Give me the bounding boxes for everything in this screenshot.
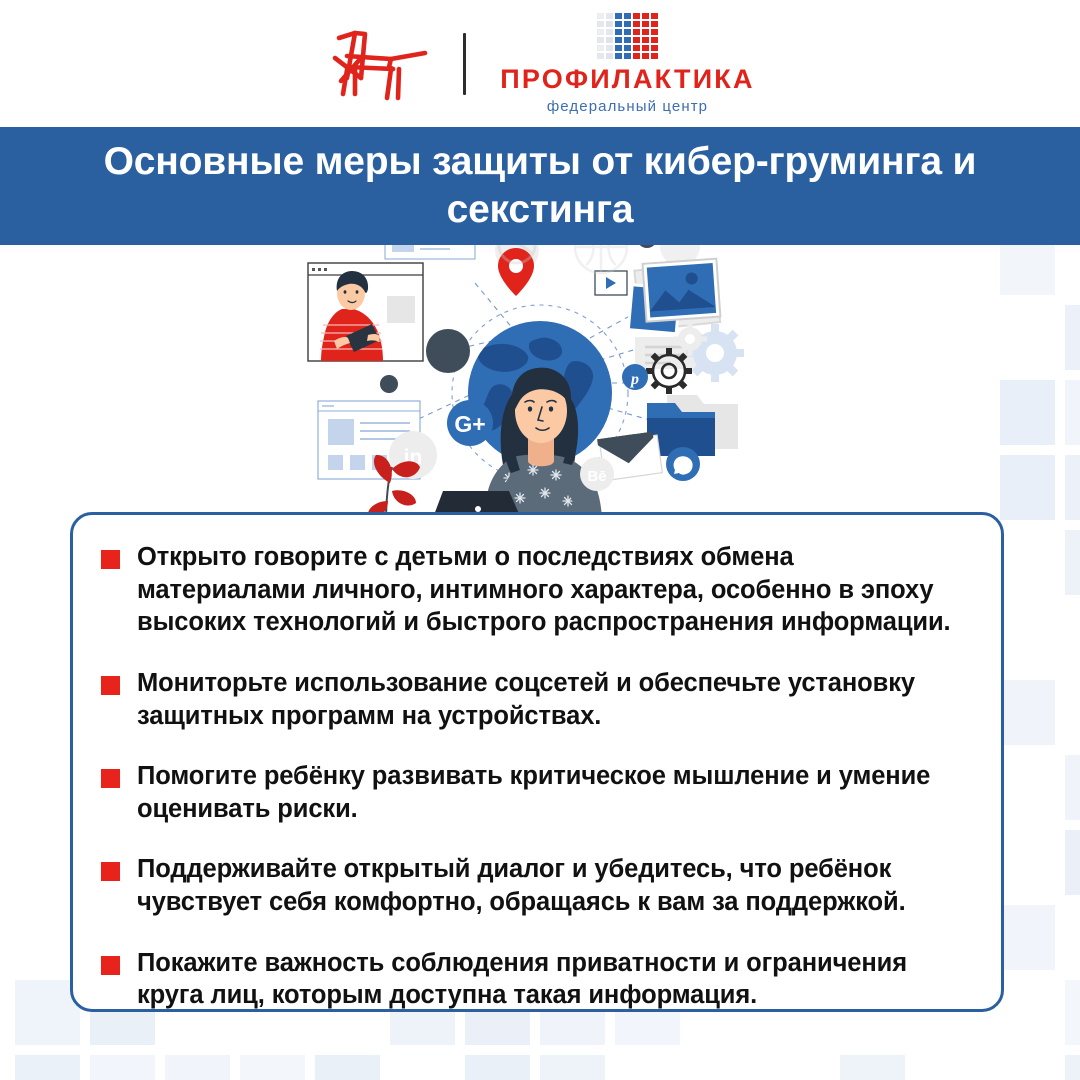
play-video-icon <box>595 271 627 295</box>
background-grid-cell <box>1065 980 1080 1045</box>
infographic-poster: ПРОФИЛАКТИКА федеральный центр Основные … <box>0 0 1080 1080</box>
flag-grid-cell <box>642 53 649 59</box>
flag-grid-cell <box>615 29 622 35</box>
tips-list: Открыто говорите с детьми о последствиях… <box>101 541 967 1012</box>
video-call-window-icon <box>308 263 423 361</box>
tip-item: Помогите ребёнку развивать критическое м… <box>101 760 967 825</box>
flag-grid-cell <box>597 37 604 43</box>
square-bullet-icon <box>101 550 120 569</box>
flag-grid-cell <box>597 53 604 59</box>
flag-grid-cell <box>642 37 649 43</box>
flag-grid-cell <box>606 13 613 19</box>
tip-open-talk: Открыто говорите с детьми о последствиях… <box>137 541 967 639</box>
square-bullet-icon <box>101 862 120 881</box>
background-grid-cell <box>165 1055 230 1080</box>
flag-grid-cell <box>651 29 658 35</box>
flag-grid-cell <box>624 21 631 27</box>
flag-grid-cell <box>606 21 613 27</box>
flag-grid-cell <box>606 45 613 51</box>
flag-grid-cell <box>615 45 622 51</box>
flag-grid-cell <box>597 45 604 51</box>
flag-grid-cell <box>597 29 604 35</box>
background-grid-cell <box>1065 380 1080 445</box>
background-grid-cell <box>540 1055 605 1080</box>
flag-grid-cell <box>597 21 604 27</box>
google-plus-icon: G+ <box>447 400 493 446</box>
square-bullet-icon <box>101 956 120 975</box>
brand-name: ПРОФИЛАКТИКА <box>500 66 754 93</box>
flag-grid-cell <box>633 21 640 27</box>
background-grid-cell <box>240 1055 305 1080</box>
flag-grid-cell <box>642 21 649 27</box>
photo-frame-icon <box>628 259 720 334</box>
flag-grid-cell <box>633 45 640 51</box>
background-grid-cell <box>840 1055 905 1080</box>
flag-grid-cell <box>606 53 613 59</box>
tip-item: Покажите важность соблюдения приватности… <box>101 947 967 1012</box>
flag-grid-cell <box>606 29 613 35</box>
flag-grid-cell <box>615 21 622 27</box>
decor-circle <box>380 375 398 393</box>
flag-grid-cell <box>624 13 631 19</box>
flag-grid-cell <box>642 29 649 35</box>
flag-grid-cell <box>651 45 658 51</box>
tip-critical-thinking: Помогите ребёнку развивать критическое м… <box>137 760 967 825</box>
chair-line-art-icon <box>325 26 433 102</box>
tip-monitor-social: Мониторьте использование соцсетей и обес… <box>137 667 967 732</box>
flag-grid-cell <box>651 13 658 19</box>
brand-header: ПРОФИЛАКТИКА федеральный центр <box>0 0 1080 127</box>
flag-grid-cell <box>624 29 631 35</box>
flag-grid-cell <box>633 13 640 19</box>
decor-circle <box>426 329 470 373</box>
square-bullet-icon <box>101 769 120 788</box>
title-banner: Основные меры защиты от кибер-груминга и… <box>0 127 1080 245</box>
background-grid-cell <box>1065 830 1080 895</box>
brand-subtitle: федеральный центр <box>547 99 708 114</box>
flag-grid-icon <box>597 13 658 59</box>
svg-text:G+: G+ <box>454 411 485 437</box>
page-title: Основные меры защиты от кибер-груминга и… <box>50 138 1030 233</box>
behance-icon: Bē <box>580 457 614 491</box>
tip-privacy: Покажите важность соблюдения приватности… <box>137 947 967 1012</box>
whatsapp-icon <box>666 447 700 481</box>
globe-outline-icon <box>575 243 627 273</box>
social-network-illustration: G+ in p Bē <box>290 243 790 523</box>
flag-grid-cell <box>597 13 604 19</box>
flag-grid-cell <box>615 53 622 59</box>
background-grid-cell <box>1065 305 1080 370</box>
tip-item: Поддерживайте открытый диалог и убедитес… <box>101 853 967 918</box>
flag-grid-cell <box>624 53 631 59</box>
brand-text-block: ПРОФИЛАКТИКА федеральный центр <box>500 13 754 114</box>
tip-open-dialog: Поддерживайте открытый диалог и убедитес… <box>137 853 967 918</box>
flag-grid-cell <box>615 13 622 19</box>
tip-item: Открыто говорите с детьми о последствиях… <box>101 541 967 639</box>
flag-grid-cell <box>651 21 658 27</box>
flag-grid-cell <box>633 37 640 43</box>
square-bullet-icon <box>101 676 120 695</box>
svg-text:p: p <box>629 371 639 388</box>
flag-grid-cell <box>624 45 631 51</box>
flag-grid-cell <box>642 13 649 19</box>
pinterest-icon: p <box>622 364 648 390</box>
flag-grid-cell <box>633 29 640 35</box>
background-grid-cell <box>1065 1055 1080 1080</box>
flag-grid-cell <box>651 37 658 43</box>
svg-text:Bē: Bē <box>587 468 606 485</box>
flag-grid-cell <box>606 37 613 43</box>
background-grid-cell <box>90 1055 155 1080</box>
tips-card: Открыто говорите с детьми о последствиях… <box>70 512 1004 1012</box>
flag-grid-cell <box>651 53 658 59</box>
background-grid-cell <box>1065 755 1080 820</box>
logo-divider <box>463 33 466 95</box>
background-grid-cell <box>315 1055 380 1080</box>
background-grid-cell <box>465 1055 530 1080</box>
flag-grid-cell <box>633 53 640 59</box>
tip-item: Мониторьте использование соцсетей и обес… <box>101 667 967 732</box>
background-grid-cell <box>1065 455 1080 520</box>
background-grid-cell <box>15 1055 80 1080</box>
flag-grid-cell <box>642 45 649 51</box>
flag-grid-cell <box>615 37 622 43</box>
folder-icon <box>647 395 738 456</box>
background-grid-cell <box>1065 530 1080 595</box>
flag-grid-cell <box>624 37 631 43</box>
